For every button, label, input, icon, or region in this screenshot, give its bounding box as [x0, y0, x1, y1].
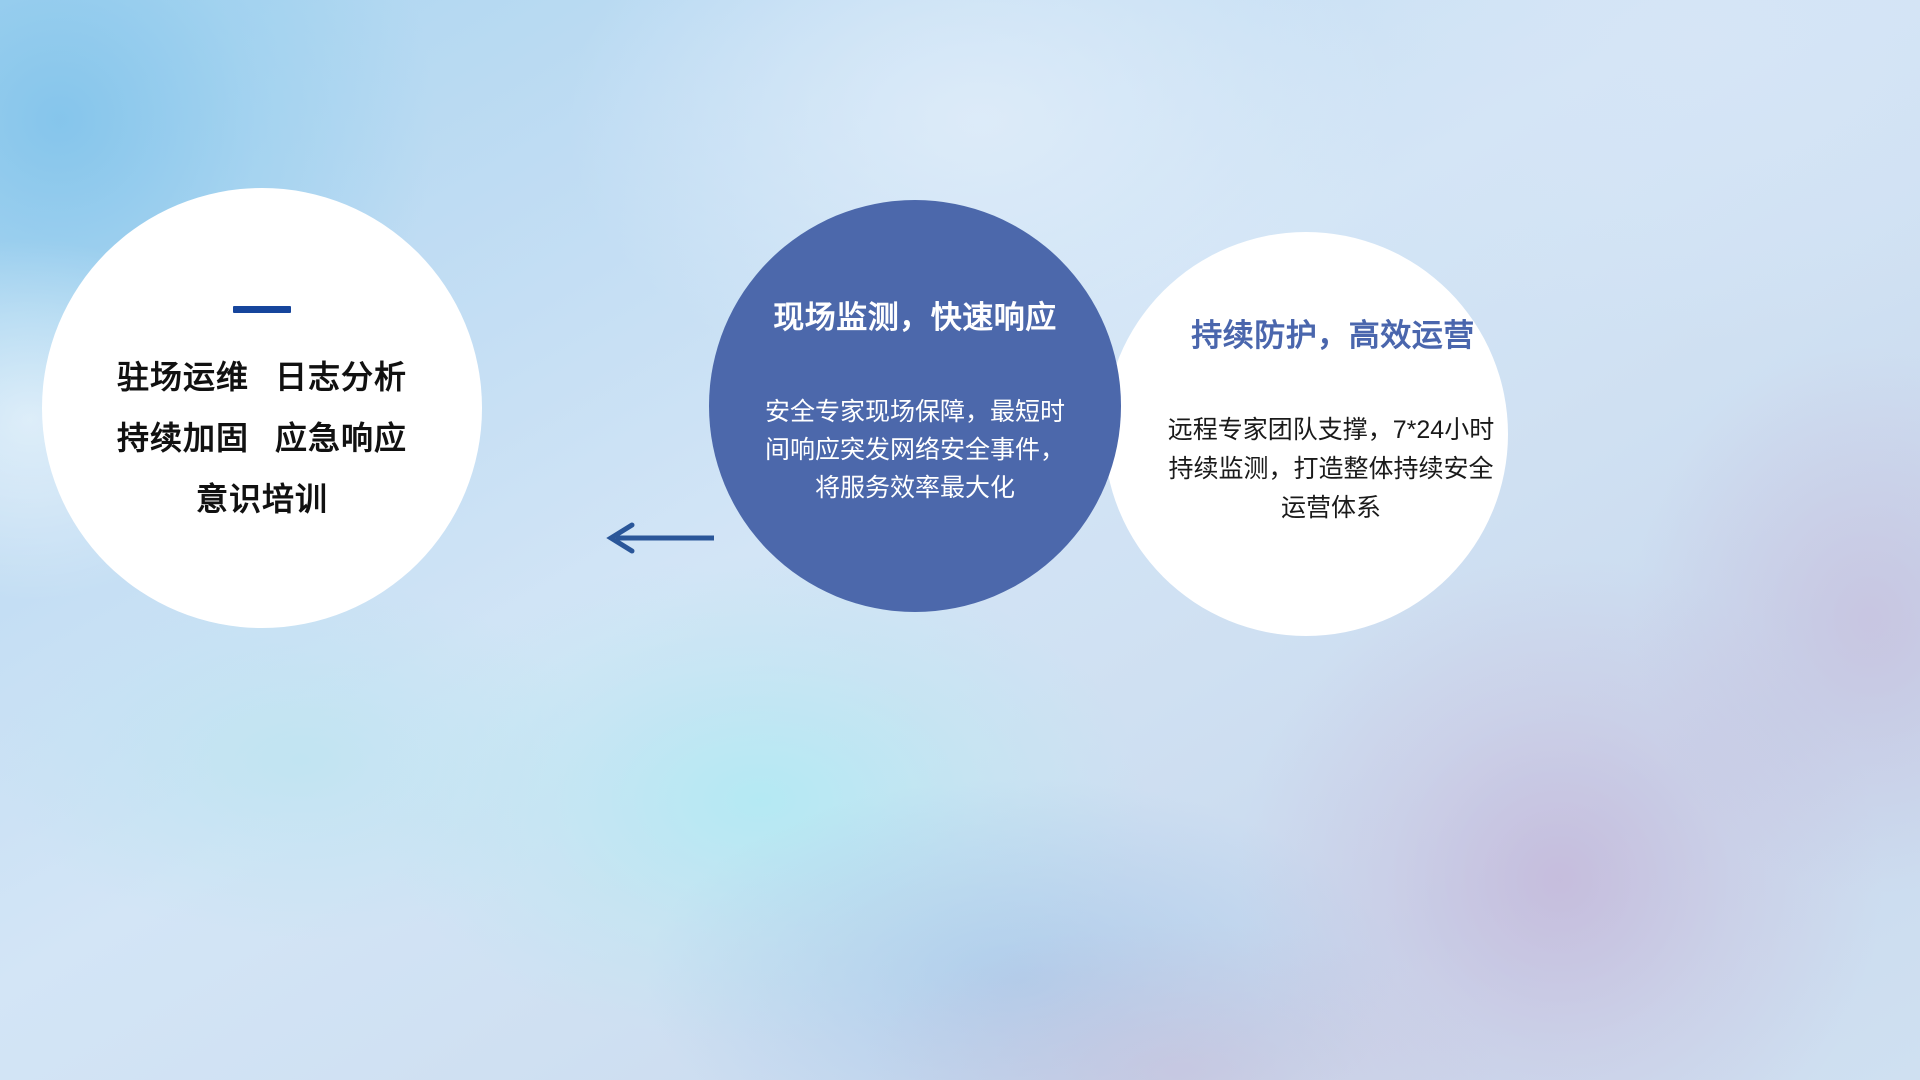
capability-item-3a: 意识培训	[196, 481, 328, 517]
onsite-monitoring-circle[interactable]: 现场监测，快速响应 安全专家现场保障，最短时间响应突发网络安全事件，将服务效率最…	[709, 200, 1121, 612]
capability-list: 驻场运维日志分析 持续加固应急响应 意识培训	[117, 361, 407, 515]
arrow-left-icon	[596, 518, 716, 558]
capability-item-1a: 驻场运维	[117, 359, 249, 395]
continuous-operation-circle[interactable]: 持续防护，高效运营 远程专家团队支撑，7*24小时持续监测，打造整体持续安全运营…	[1104, 232, 1508, 636]
capability-row-3: 意识培训	[117, 483, 407, 515]
capability-item-2b: 应急响应	[275, 420, 407, 456]
slide-canvas: 驻场运维日志分析 持续加固应急响应 意识培训 持续防护，高效运营 远程专家团队支…	[0, 0, 1920, 1080]
accent-dash-icon	[233, 306, 291, 313]
capability-row-2: 持续加固应急响应	[117, 422, 407, 454]
capability-circle[interactable]: 驻场运维日志分析 持续加固应急响应 意识培训	[42, 188, 482, 628]
continuous-operation-title: 持续防护，高效运营	[1137, 310, 1475, 355]
capability-row-1: 驻场运维日志分析	[117, 361, 407, 393]
capability-item-2a: 持续加固	[117, 420, 249, 456]
onsite-monitoring-title: 现场监测，快速响应	[773, 292, 1057, 337]
capability-item-1b: 日志分析	[275, 359, 407, 395]
onsite-monitoring-body: 安全专家现场保障，最短时间响应突发网络安全事件，将服务效率最大化	[765, 393, 1065, 507]
continuous-operation-body: 远程专家团队支撑，7*24小时持续监测，打造整体持续安全运营体系	[1111, 411, 1501, 528]
